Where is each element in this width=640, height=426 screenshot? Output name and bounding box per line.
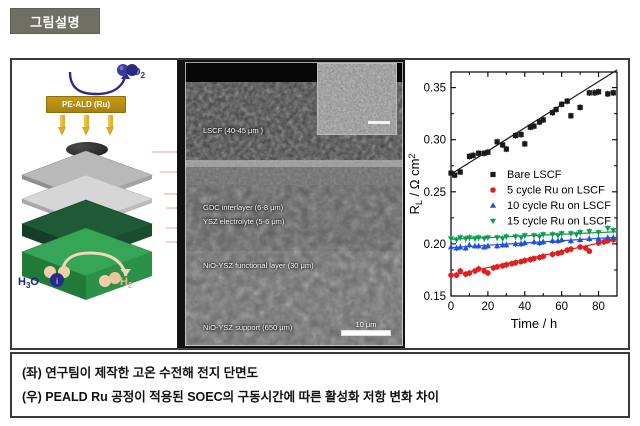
data-point: [522, 258, 528, 264]
legend-label: 15 cycle Ru on LSCF: [507, 216, 611, 228]
data-point: [458, 169, 463, 174]
data-point: [559, 102, 564, 107]
data-point: [568, 113, 573, 118]
chart-canvas: 0204060800.150.200.250.300.35Bare LSCF5 …: [405, 60, 628, 348]
x-tick-label: 20: [481, 301, 494, 313]
legend-label: 5 cycle Ru on LSCF: [507, 185, 605, 197]
sem-scale-bar-line: [341, 330, 391, 336]
data-point: [494, 235, 500, 240]
sem-scale-bar: 10 μm: [341, 320, 391, 336]
data-point: [512, 234, 518, 239]
y-axis-title: RL / Ω cm2: [407, 154, 424, 215]
pe-ald-process-box: PE-ALD (Ru): [46, 96, 126, 113]
data-point: [471, 153, 476, 158]
deposition-arrow-icon-1: [58, 115, 67, 137]
x-tick-label: 0: [448, 301, 454, 313]
data-point: [448, 272, 454, 278]
x-axis-title: Time / h: [511, 316, 557, 331]
data-point: [485, 150, 490, 155]
legend-entry-2: 5 cycle Ru on LSCF: [490, 185, 605, 197]
sem-label-ysz: YSZ electrolyte (5-6 μm): [203, 217, 284, 226]
legend-label: 10 cycle Ru on LSCF: [507, 200, 611, 212]
sem-surface-inset-image: [317, 63, 397, 135]
data-point: [587, 248, 593, 254]
water-label: H3O: [18, 276, 39, 290]
section-header-label: 그림설명: [30, 12, 80, 31]
legend-label: Bare LSCF: [507, 169, 562, 181]
y-tick-label: 0.30: [424, 135, 446, 147]
y-axis-title-unit: / Ω cm: [407, 159, 422, 201]
section-header-tag: 그림설명: [10, 8, 100, 34]
legend-entry-4: 15 cycle Ru on LSCF: [490, 216, 611, 228]
sem-scale-bar-label: 10 μm: [356, 320, 377, 329]
figure-frame: O2 PE-ALD (Ru): [10, 58, 630, 350]
data-point: [518, 235, 524, 240]
y-tick-label: 0.20: [424, 239, 446, 251]
data-point: [490, 187, 496, 193]
data-point: [467, 270, 473, 276]
hydrogen-label: H2: [120, 276, 132, 290]
data-point: [568, 246, 574, 252]
deposition-arrow-icon-3: [106, 115, 115, 137]
x-tick-label: 40: [518, 301, 531, 313]
data-point: [605, 91, 610, 96]
data-point: [457, 268, 463, 274]
data-point: [559, 237, 565, 242]
data-point: [555, 233, 561, 238]
x-tick-label: 60: [555, 301, 568, 313]
deposition-arrow-icon-2: [82, 115, 91, 137]
data-point: [586, 229, 592, 234]
data-point: [490, 202, 496, 207]
data-point: [549, 238, 555, 243]
data-point: [611, 90, 616, 95]
figure-caption-box: (좌) 연구팀이 제작한 고온 수전해 전지 단면도 (우) PEALD Ru …: [10, 352, 630, 418]
data-point: [522, 141, 527, 146]
y-axis-title-r: R: [407, 205, 422, 214]
data-point: [504, 262, 510, 268]
sem-label-functional: NiO-YSZ functional layer (30 μm): [203, 261, 314, 270]
data-point: [500, 236, 506, 241]
data-point: [476, 266, 482, 272]
data-point: [494, 264, 500, 270]
series-1: [448, 70, 617, 178]
data-point: [490, 172, 495, 177]
sem-label-lscf: LSCF (40-45 μm ): [203, 126, 263, 135]
y-axis-title-sup: 2: [407, 154, 417, 159]
data-point: [587, 90, 592, 95]
legend-entry-3: 10 cycle Ru on LSCF: [490, 200, 611, 212]
resistance-vs-time-chart: 0204060800.150.200.250.300.35Bare LSCF5 …: [405, 60, 628, 348]
pe-ald-process-label: PE-ALD (Ru): [62, 100, 110, 109]
data-point: [531, 256, 537, 262]
data-point: [504, 146, 509, 151]
y-tick-label: 0.25: [424, 187, 446, 199]
trend-line: [451, 70, 617, 174]
data-point: [466, 242, 472, 247]
data-point: [490, 219, 496, 224]
data-point: [596, 89, 601, 94]
data-point: [610, 228, 616, 233]
data-point: [495, 139, 500, 144]
x-tick-label: 80: [592, 301, 605, 313]
data-point: [536, 234, 542, 239]
y-tick-label: 0.35: [424, 83, 446, 95]
data-point: [518, 132, 523, 137]
data-point: [454, 272, 460, 278]
y-tick-label: 0.15: [424, 291, 446, 303]
data-point: [559, 249, 565, 255]
sem-label-gdc: GDC interlayer (6-8 μm): [203, 203, 283, 212]
data-point: [513, 260, 519, 266]
data-point: [577, 244, 583, 250]
data-point: [573, 232, 579, 237]
data-point: [476, 151, 481, 156]
data-point: [554, 107, 559, 112]
data-point: [550, 252, 556, 258]
data-point: [565, 99, 570, 104]
data-point: [453, 237, 459, 242]
oxygen-label: O2: [132, 66, 145, 80]
legend-entry-1: Bare LSCF: [490, 169, 561, 181]
data-point: [494, 243, 500, 248]
svg-text:i: i: [56, 277, 58, 286]
caption-line-2: (우) PEALD Ru 공정이 적용된 SOEC의 구동시간에 따른 활성화 …: [22, 385, 618, 409]
data-point: [541, 117, 546, 122]
data-point: [452, 173, 457, 178]
sem-label-support: NiO-YSZ support (650 μm): [203, 323, 292, 332]
cell-schematic-panel: O2 PE-ALD (Ru): [12, 60, 177, 348]
data-point: [578, 105, 583, 110]
y-axis-title-text: RL / Ω cm2: [407, 154, 424, 215]
data-point: [540, 254, 546, 260]
data-point: [448, 244, 454, 249]
data-point: [513, 133, 518, 138]
data-point: [531, 239, 537, 244]
cell-layer-stack: [20, 148, 170, 323]
data-point: [531, 124, 536, 129]
water-molecule-icon: i: [42, 266, 76, 288]
caption-line-1: (좌) 연구팀이 제작한 고온 수전해 전지 단면도: [22, 361, 618, 385]
data-point: [485, 270, 491, 276]
sem-cross-section-panel: LSCF (40-45 μm ) GDC interlayer (6-8 μm)…: [177, 60, 405, 348]
